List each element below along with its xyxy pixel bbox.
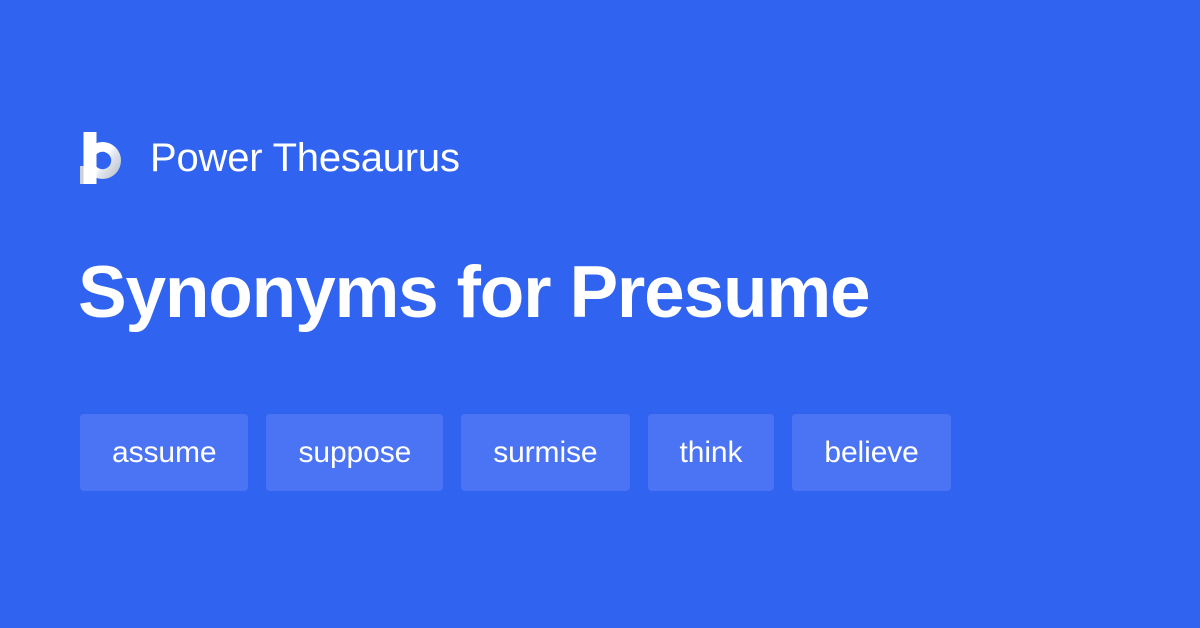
synonym-chip[interactable]: believe [792,414,950,491]
brand-name: Power Thesaurus [150,138,460,178]
page-title: Synonyms for Presume [78,249,869,337]
synonym-chip[interactable]: think [648,414,775,491]
power-thesaurus-b-logo-icon [80,132,126,184]
synonym-chip[interactable]: assume [80,414,248,491]
synonym-chip-label: believe [824,438,918,468]
synonym-chip-label: suppose [298,438,411,468]
synonym-chip-label: think [680,438,743,468]
brand-lockup[interactable]: Power Thesaurus [80,129,460,187]
synonym-chip[interactable]: suppose [266,414,443,491]
synonym-chip-label: surmise [493,438,597,468]
synonym-chip-label: assume [112,438,216,468]
synonym-chip-row: assume suppose surmise think believe [80,414,951,491]
og-card: Power Thesaurus Synonyms for Presume ass… [0,0,1200,628]
synonym-chip[interactable]: surmise [461,414,629,491]
